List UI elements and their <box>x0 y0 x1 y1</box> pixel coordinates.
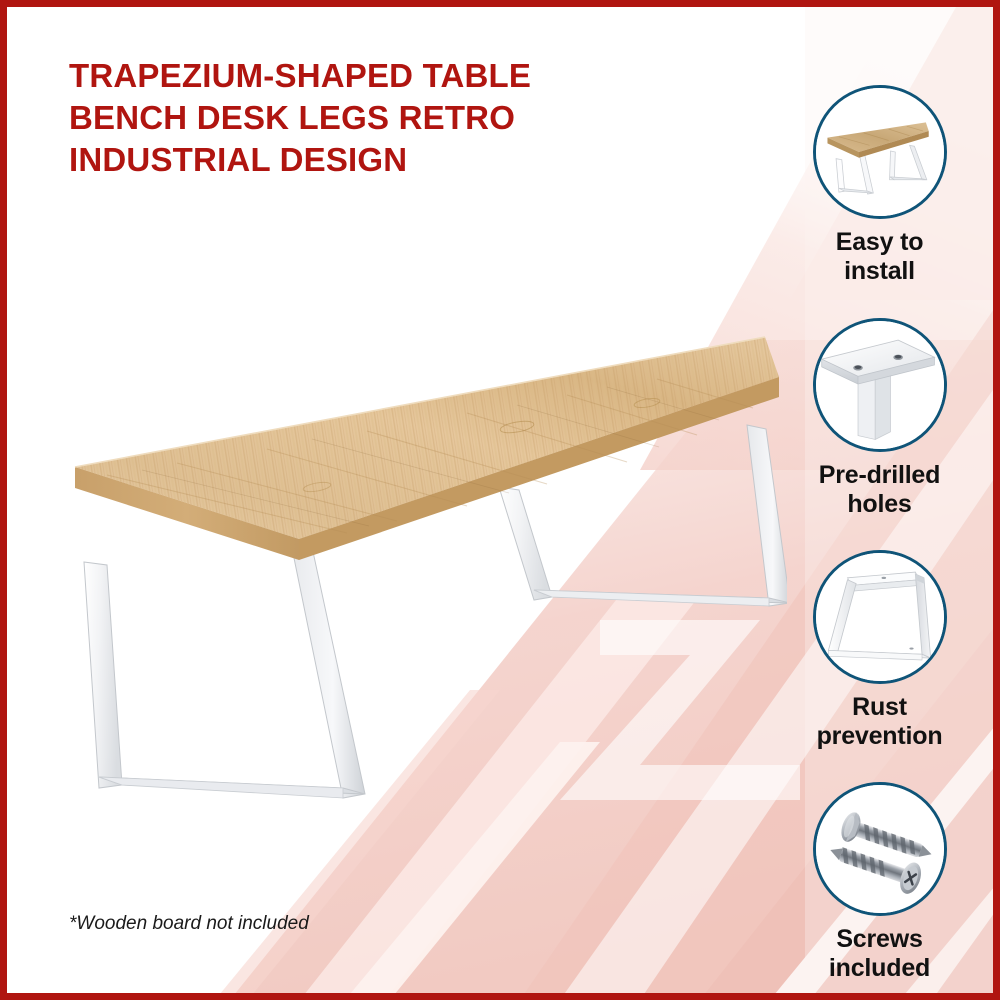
screws-icon <box>813 782 947 916</box>
feature-label: Pre-drilled holes <box>772 461 987 518</box>
feature-label: Rust prevention <box>772 693 987 750</box>
product-illustration <box>47 307 787 837</box>
feature-screws-included: Screws included <box>772 782 987 982</box>
table-leg-left <box>84 514 365 798</box>
trapezium-leg-icon <box>813 550 947 684</box>
feature-rust-prevention: Rust prevention <box>772 550 987 750</box>
bench-table-icon <box>813 85 947 219</box>
disclaimer-text: *Wooden board not included <box>69 913 309 935</box>
feature-list: Easy to install <box>772 7 987 1000</box>
trapezium-leg-table-graphic <box>47 307 787 837</box>
feature-label: Easy to install <box>772 228 987 285</box>
feature-label: Screws included <box>772 925 987 982</box>
table-top-board <box>75 337 779 560</box>
drilled-plate-icon <box>813 318 947 452</box>
feature-pre-drilled-holes: Pre-drilled holes <box>772 318 987 518</box>
feature-easy-to-install: Easy to install <box>772 85 987 285</box>
product-poster: TRAPEZIUM-SHAPED TABLE BENCH DESK LEGS R… <box>0 0 1000 1000</box>
page-title: TRAPEZIUM-SHAPED TABLE BENCH DESK LEGS R… <box>69 55 629 182</box>
